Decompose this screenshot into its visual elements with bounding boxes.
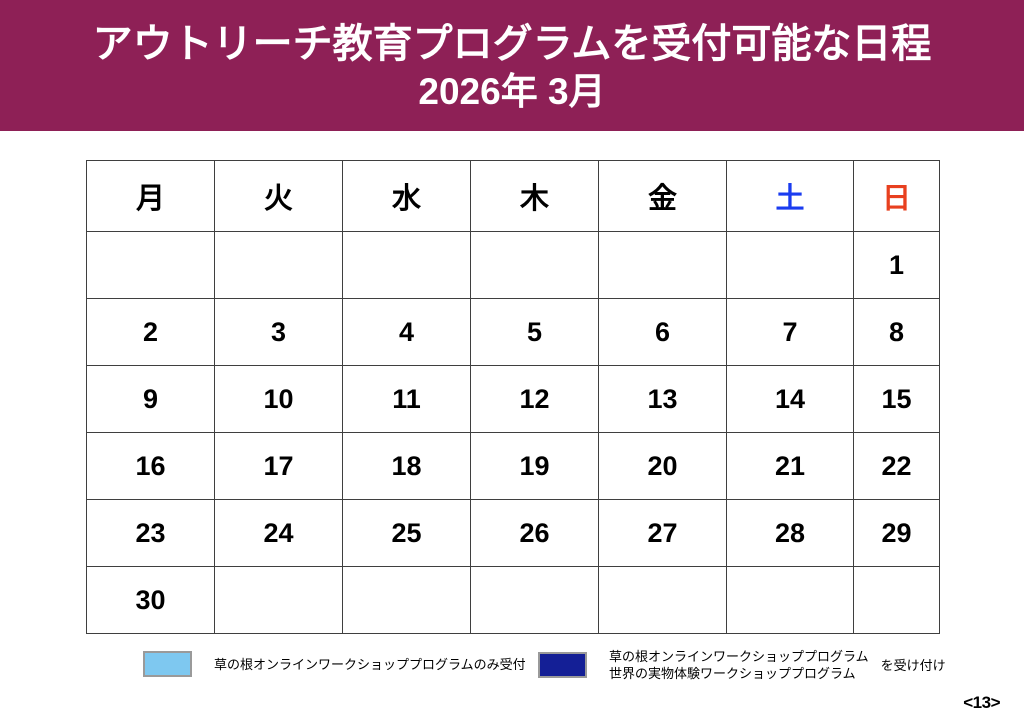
- legend-label-suffix: を受け付け: [881, 657, 946, 674]
- calendar-day-cell[interactable]: 26: [471, 500, 599, 567]
- calendar-day-cell[interactable]: [727, 232, 854, 299]
- calendar-day-cell[interactable]: 2: [87, 299, 215, 366]
- calendar-week-row: 30: [87, 567, 940, 634]
- calendar-day-cell[interactable]: 17: [215, 433, 343, 500]
- calendar-week-row: 23 24 25 26 27 28 29: [87, 500, 940, 567]
- calendar-day-cell[interactable]: [343, 232, 471, 299]
- calendar-day-cell[interactable]: 25: [343, 500, 471, 567]
- weekday-header-saturday: 土: [727, 161, 854, 232]
- calendar-day-cell[interactable]: 29: [854, 500, 940, 567]
- calendar-day-cell[interactable]: 8: [854, 299, 940, 366]
- weekday-header-tuesday: 火: [215, 161, 343, 232]
- calendar-day-cell[interactable]: [599, 232, 727, 299]
- legend-item-both-programs: 草の根オンラインワークショッププログラム 世界の実物体験ワークショッププログラム…: [538, 648, 946, 682]
- calendar-week-row: 9 10 11 12 13 14 15: [87, 366, 940, 433]
- calendar-day-cell[interactable]: 7: [727, 299, 854, 366]
- legend-item-online-only: 草の根オンラインワークショッププログラムのみ受付: [143, 651, 526, 677]
- calendar-day-cell[interactable]: [471, 567, 599, 634]
- calendar-day-cell[interactable]: 5: [471, 299, 599, 366]
- calendar-day-cell[interactable]: 28: [727, 500, 854, 567]
- calendar-day-cell[interactable]: 18: [343, 433, 471, 500]
- calendar-day-cell[interactable]: [215, 232, 343, 299]
- calendar-week-row: 2 3 4 5 6 7 8: [87, 299, 940, 366]
- calendar-day-cell[interactable]: [343, 567, 471, 634]
- calendar-day-cell[interactable]: [854, 567, 940, 634]
- calendar-container: 月 火 水 木 金 土 日 1 2 3: [86, 160, 939, 634]
- calendar-day-cell[interactable]: 11: [343, 366, 471, 433]
- legend-label-lines: 草の根オンラインワークショッププログラム 世界の実物体験ワークショッププログラム: [609, 648, 869, 682]
- calendar-day-cell[interactable]: 12: [471, 366, 599, 433]
- calendar-header-row: 月 火 水 木 金 土 日: [87, 161, 940, 232]
- calendar-week-row: 16 17 18 19 20 21 22: [87, 433, 940, 500]
- title-banner: アウトリーチ教育プログラムを受付可能な日程 2026年 3月: [0, 0, 1024, 131]
- calendar-day-cell[interactable]: [87, 232, 215, 299]
- weekday-header-thursday: 木: [471, 161, 599, 232]
- calendar-day-cell[interactable]: [727, 567, 854, 634]
- calendar-day-cell[interactable]: 19: [471, 433, 599, 500]
- calendar-day-cell[interactable]: 15: [854, 366, 940, 433]
- calendar-day-cell[interactable]: 27: [599, 500, 727, 567]
- calendar-day-cell[interactable]: 1: [854, 232, 940, 299]
- calendar-day-cell[interactable]: 6: [599, 299, 727, 366]
- calendar-day-cell[interactable]: 16: [87, 433, 215, 500]
- weekday-header-friday: 金: [599, 161, 727, 232]
- legend-label-both-programs: 草の根オンラインワークショッププログラム 世界の実物体験ワークショッププログラム…: [609, 648, 946, 682]
- calendar-day-cell[interactable]: [599, 567, 727, 634]
- calendar-day-cell[interactable]: 14: [727, 366, 854, 433]
- calendar-day-cell[interactable]: 21: [727, 433, 854, 500]
- calendar-day-cell[interactable]: 3: [215, 299, 343, 366]
- calendar-day-cell[interactable]: 22: [854, 433, 940, 500]
- calendar-table: 月 火 水 木 金 土 日 1 2 3: [86, 160, 940, 634]
- calendar-day-cell[interactable]: [471, 232, 599, 299]
- page-title-line2: 2026年 3月: [418, 69, 605, 115]
- calendar-day-cell[interactable]: 30: [87, 567, 215, 634]
- legend-label-line1: 草の根オンラインワークショッププログラム: [609, 648, 869, 665]
- calendar-day-cell[interactable]: 23: [87, 500, 215, 567]
- calendar-day-cell[interactable]: 13: [599, 366, 727, 433]
- calendar-day-cell[interactable]: 24: [215, 500, 343, 567]
- legend-swatch-navy: [538, 652, 587, 678]
- page-number: <13>: [963, 693, 1000, 713]
- calendar-week-row: 1: [87, 232, 940, 299]
- legend-label-online-only: 草の根オンラインワークショッププログラムのみ受付: [214, 656, 526, 673]
- calendar-day-cell[interactable]: 20: [599, 433, 727, 500]
- legend-swatch-lightblue: [143, 651, 192, 677]
- calendar-day-cell[interactable]: [215, 567, 343, 634]
- page-title-line1: アウトリーチ教育プログラムを受付可能な日程: [93, 19, 932, 69]
- calendar-day-cell[interactable]: 4: [343, 299, 471, 366]
- calendar-body: 1 2 3 4 5 6 7 8 9 10 11 12 13 14 15: [87, 232, 940, 634]
- weekday-header-wednesday: 水: [343, 161, 471, 232]
- weekday-header-monday: 月: [87, 161, 215, 232]
- weekday-header-sunday: 日: [854, 161, 940, 232]
- legend-label-line2: 世界の実物体験ワークショッププログラム: [609, 665, 869, 682]
- calendar-day-cell[interactable]: 9: [87, 366, 215, 433]
- calendar-day-cell[interactable]: 10: [215, 366, 343, 433]
- legend: 草の根オンラインワークショッププログラムのみ受付 草の根オンラインワークショップ…: [0, 645, 1024, 697]
